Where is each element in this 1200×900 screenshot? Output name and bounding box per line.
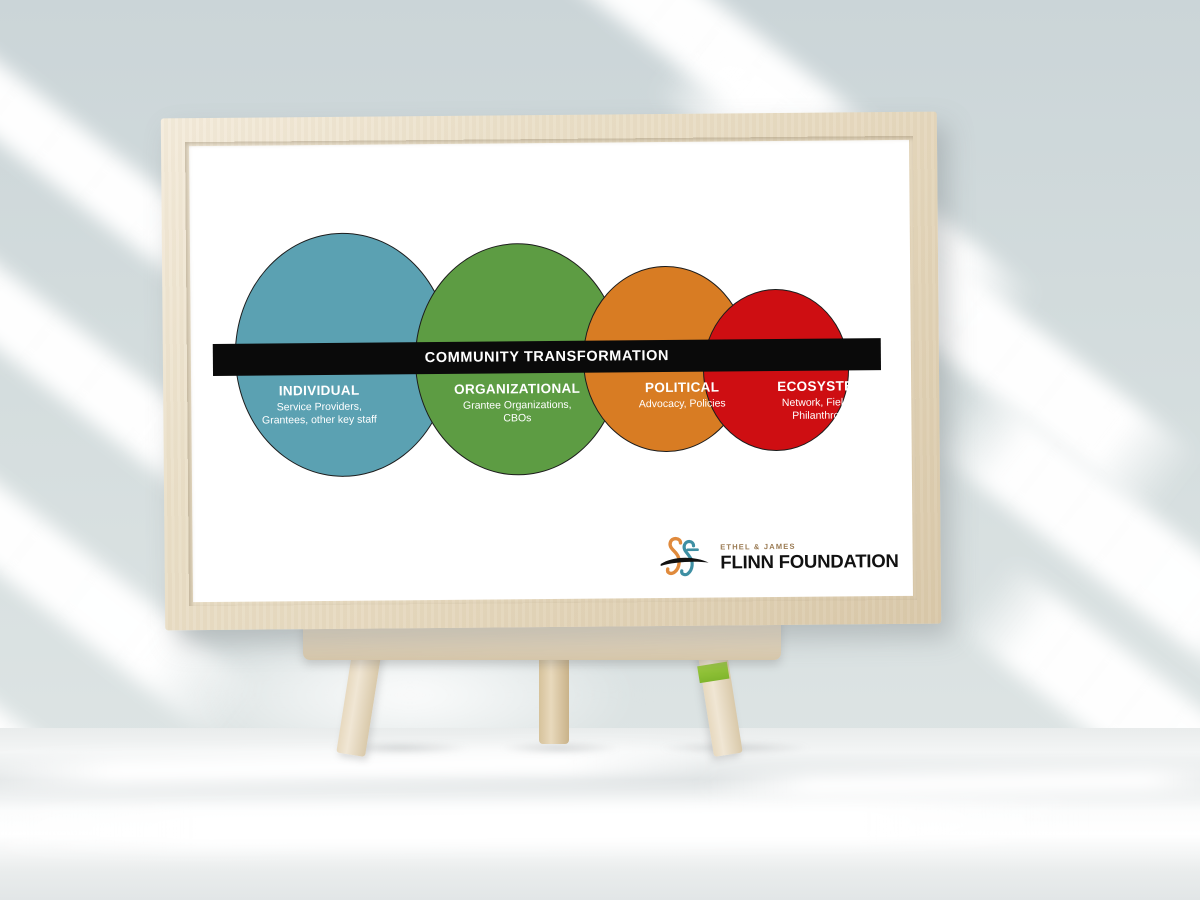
label-political: POLITICAL Advocacy, Policies — [606, 379, 758, 412]
flinn-monogram-icon — [658, 536, 712, 580]
label-ecosystem-title: ECOSYSTEM — [751, 378, 891, 396]
banner-label: COMMUNITY TRANSFORMATION — [425, 348, 669, 366]
label-ecosystem-sub-line2: Philanthropy — [751, 409, 891, 423]
logo-name: FLINN FOUNDATION — [720, 551, 899, 571]
venn-diagram: COMMUNITY TRANSFORMATION INDIVIDUAL Serv… — [189, 140, 913, 602]
label-organizational: ORGANIZATIONAL Grantee Organizations, CB… — [421, 380, 613, 426]
picture-frame[interactable]: COMMUNITY TRANSFORMATION INDIVIDUAL Serv… — [161, 112, 941, 631]
label-individual-sub-line2: Grantees, other key staff — [215, 413, 423, 428]
label-individual-title: INDIVIDUAL — [215, 382, 423, 400]
easel-center-leg — [539, 648, 569, 744]
logo-wordmark: ETHEL & JAMES FLINN FOUNDATION — [720, 542, 899, 572]
label-political-title: POLITICAL — [606, 379, 758, 397]
scene-root: COMMUNITY TRANSFORMATION INDIVIDUAL Serv… — [0, 0, 1200, 900]
label-ecosystem: ECOSYSTEM Network, Field of Philanthropy — [751, 378, 891, 423]
poster-canvas: COMMUNITY TRANSFORMATION INDIVIDUAL Serv… — [189, 140, 913, 602]
label-organizational-title: ORGANIZATIONAL — [421, 380, 613, 398]
label-organizational-sub-line2: CBOs — [421, 412, 613, 426]
community-transformation-banner: COMMUNITY TRANSFORMATION — [213, 338, 881, 376]
flinn-foundation-logo: ETHEL & JAMES FLINN FOUNDATION — [658, 534, 899, 580]
label-individual: INDIVIDUAL Service Providers, Grantees, … — [215, 382, 423, 428]
label-political-sub-line1: Advocacy, Policies — [606, 398, 758, 412]
label-ecosystem-sub-line1: Network, Field of — [751, 397, 891, 411]
